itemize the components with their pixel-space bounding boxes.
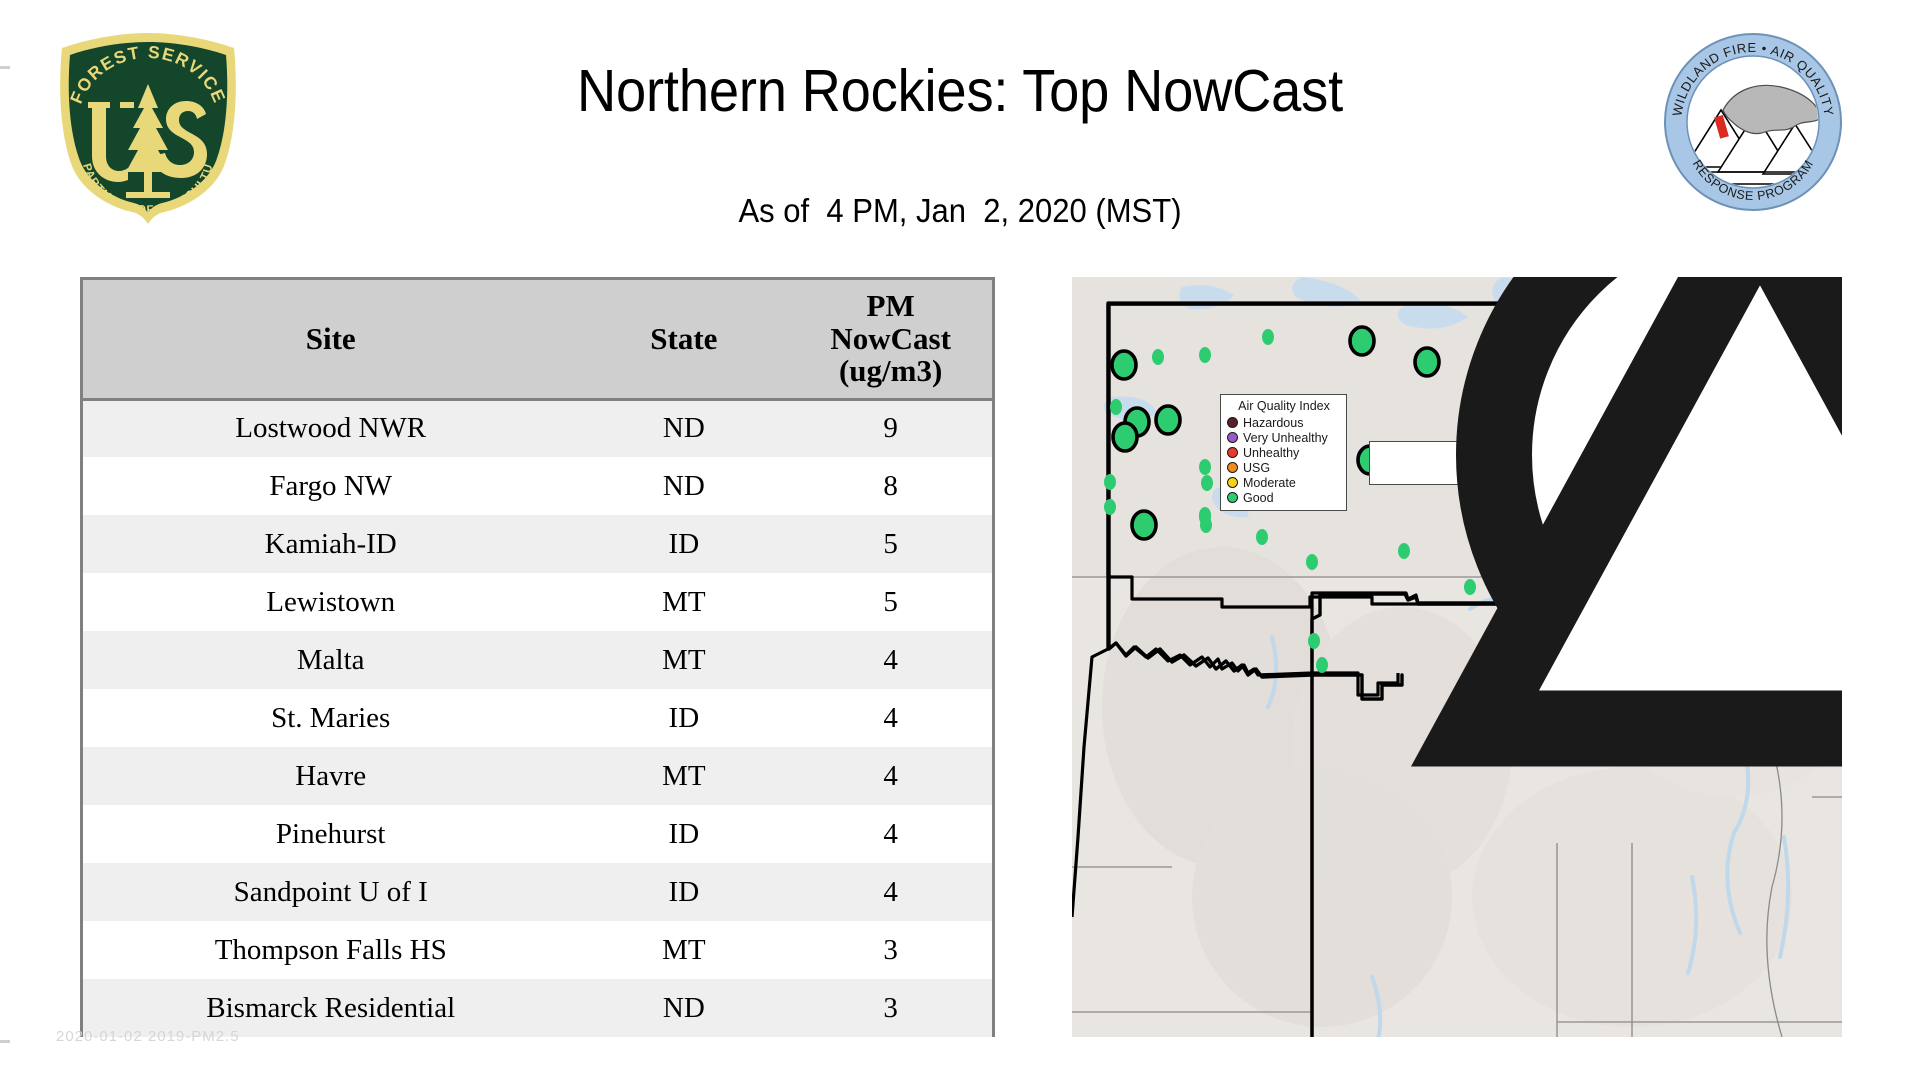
column-header-site: Site	[83, 280, 578, 399]
aqi-legend: Air Quality Index HazardousVery Unhealth…	[1220, 394, 1347, 511]
table-cell-site: Sandpoint U of I	[83, 863, 578, 921]
nowcast-table: Site State PM NowCast (ug/m3) Lostwood N…	[83, 280, 992, 1037]
edge-tick-bottom	[0, 1040, 10, 1043]
page-subtitle: As of 4 PM, Jan 2, 2020 (MST)	[321, 192, 1599, 230]
table-cell-pm-nowcast: 4	[789, 631, 992, 689]
table-row: Lostwood NWRND9	[83, 399, 992, 457]
table-cell-state: MT	[578, 631, 789, 689]
aqi-legend-item: Hazardous	[1227, 415, 1341, 430]
table-cell-site: Kamiah-ID	[83, 515, 578, 573]
table-row: St. MariesID4	[83, 689, 992, 747]
table-cell-state: ND	[578, 457, 789, 515]
table-row: Kamiah-IDID5	[83, 515, 992, 573]
table-row: HavreMT4	[83, 747, 992, 805]
aqi-swatch-icon	[1227, 432, 1238, 443]
column-header-pm-line2: NowCast	[793, 323, 988, 355]
table-cell-state: MT	[578, 573, 789, 631]
table-cell-pm-nowcast: 4	[789, 689, 992, 747]
table-cell-site: Thompson Falls HS	[83, 921, 578, 979]
column-header-state-label: State	[650, 321, 717, 356]
column-header-site-label: Site	[306, 321, 356, 356]
table-row: Thompson Falls HSMT3	[83, 921, 992, 979]
column-header-pm-line3: (ug/m3)	[793, 355, 988, 387]
aqi-legend-title: Air Quality Index	[1227, 399, 1341, 413]
table-cell-site: Havre	[83, 747, 578, 805]
aqi-legend-label: USG	[1243, 461, 1270, 475]
aqi-swatch-icon	[1227, 462, 1238, 473]
aqi-legend-label: Very Unhealthy	[1243, 431, 1328, 445]
aqi-legend-label: Good	[1243, 491, 1274, 505]
monitor-type-legend: temporary permanent	[1369, 441, 1471, 485]
edge-tick-top	[0, 66, 10, 69]
table-cell-pm-nowcast: 4	[789, 805, 992, 863]
table-cell-state: MT	[578, 747, 789, 805]
table-row: MaltaMT4	[83, 631, 992, 689]
table-head: Site State PM NowCast (ug/m3)	[83, 280, 992, 399]
aqi-swatch-icon	[1227, 447, 1238, 458]
aqi-legend-item: USG	[1227, 460, 1341, 475]
table-cell-site: Lostwood NWR	[83, 399, 578, 457]
table-row: LewistownMT5	[83, 573, 992, 631]
aqi-legend-item: Moderate	[1227, 475, 1341, 490]
aqi-swatch-icon	[1227, 492, 1238, 503]
table-cell-pm-nowcast: 5	[789, 573, 992, 631]
usfs-shield-logo: FOREST SERVICE DEPARTMENT OF AGRICULTURE	[48, 28, 248, 224]
aqi-legend-label: Hazardous	[1243, 416, 1303, 430]
table-cell-pm-nowcast: 4	[789, 863, 992, 921]
table-header-row: Site State PM NowCast (ug/m3)	[83, 280, 992, 399]
table-cell-pm-nowcast: 3	[789, 921, 992, 979]
table-cell-pm-nowcast: 4	[789, 747, 992, 805]
column-header-pm-nowcast: PM NowCast (ug/m3)	[789, 280, 992, 399]
table-cell-state: MT	[578, 921, 789, 979]
table-cell-site: Pinehurst	[83, 805, 578, 863]
aqi-legend-label: Moderate	[1243, 476, 1296, 490]
air-quality-map[interactable]: Air Quality Index HazardousVery Unhealth…	[1072, 277, 1842, 1037]
aqi-legend-rows: HazardousVery UnhealthyUnhealthyUSGModer…	[1227, 415, 1341, 505]
table-cell-pm-nowcast: 5	[789, 515, 992, 573]
table-row: PinehurstID4	[83, 805, 992, 863]
permanent-monitor-icon	[1375, 277, 1842, 852]
nowcast-table-container: Site State PM NowCast (ug/m3) Lostwood N…	[80, 277, 995, 1037]
table-cell-site: Fargo NW	[83, 457, 578, 515]
column-header-state: State	[578, 280, 789, 399]
aqi-legend-item: Unhealthy	[1227, 445, 1341, 460]
table-cell-state: ND	[578, 399, 789, 457]
aqi-legend-item: Good	[1227, 490, 1341, 505]
table-cell-site: St. Maries	[83, 689, 578, 747]
aqi-swatch-icon	[1227, 417, 1238, 428]
table-cell-pm-nowcast: 3	[789, 979, 992, 1037]
table-cell-state: ID	[578, 863, 789, 921]
table-body: Lostwood NWRND9Fargo NWND8Kamiah-IDID5Le…	[83, 399, 992, 1037]
table-cell-state: ND	[578, 979, 789, 1037]
table-cell-state: ID	[578, 805, 789, 863]
table-cell-state: ID	[578, 689, 789, 747]
footer-note: 2020-01-02 2019-PM2.5	[56, 1028, 240, 1045]
table-cell-site: Lewistown	[83, 573, 578, 631]
slide-canvas: FOREST SERVICE DEPARTMENT OF AGRICULTURE	[0, 0, 1920, 1080]
table-cell-site: Malta	[83, 631, 578, 689]
page-title: Northern Rockies: Top NowCast	[334, 57, 1585, 125]
wfaqrp-seal-logo: WILDLAND FIRE • AIR QUALITY RESPONSE PRO…	[1663, 32, 1843, 212]
aqi-swatch-icon	[1227, 477, 1238, 488]
table-row: Sandpoint U of IID4	[83, 863, 992, 921]
table-row: Fargo NWND8	[83, 457, 992, 515]
legend-row-permanent: permanent	[1375, 463, 1466, 480]
aqi-legend-item: Very Unhealthy	[1227, 430, 1341, 445]
column-header-pm-line1: PM	[793, 290, 988, 322]
table-cell-state: ID	[578, 515, 789, 573]
table-cell-pm-nowcast: 9	[789, 399, 992, 457]
table-cell-pm-nowcast: 8	[789, 457, 992, 515]
aqi-legend-label: Unhealthy	[1243, 446, 1299, 460]
